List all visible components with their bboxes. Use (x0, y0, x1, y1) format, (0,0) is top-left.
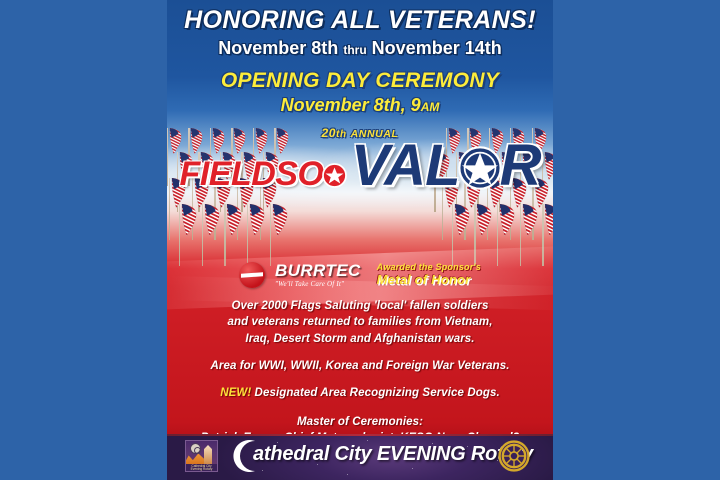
screenshot-canvas: HONORING ALL VETERANS! November 8th thru… (0, 0, 720, 480)
service-dogs-text: Designated Area Recognizing Service Dogs… (251, 387, 500, 399)
star-icon (322, 160, 347, 185)
sparkle-dot (522, 450, 523, 451)
new-badge: NEW! (220, 387, 251, 399)
sparkle-dot (347, 474, 348, 475)
date-range: November 8th thru November 14th (167, 38, 553, 59)
cathedral-city-club-logo-icon: Cathedral City Evening Rotary (185, 440, 218, 472)
logo-of-first-letter: O (297, 155, 323, 193)
star-roundel-icon (458, 142, 502, 186)
date-range-end: November 14th (372, 38, 502, 58)
burrtec-logo-icon (239, 262, 265, 288)
sparkle-dot (497, 460, 498, 461)
ceremony-date-text: November 8th, 9 (281, 95, 421, 115)
sponsor-row: BURRTEC "We'll Take Care Of It" Awarded … (167, 262, 553, 288)
rotary-club-footer: Cathedral City Evening Rotary athedral C… (167, 434, 553, 480)
award-line-2: Metal of Honor (377, 273, 481, 287)
logo-word-fields: FIELDS (180, 155, 298, 193)
sparkle-dot (367, 440, 368, 441)
veterans-event-poster: HONORING ALL VETERANS! November 8th thru… (167, 0, 553, 480)
page-title: HONORING ALL VETERANS! (167, 6, 553, 35)
body-line-2: and veterans returned to families from V… (167, 314, 553, 330)
logo-valor-after: R (500, 133, 541, 198)
sparkle-dot (317, 464, 318, 465)
body-line-4: Area for WWI, WWII, Korea and Foreign Wa… (167, 358, 553, 374)
ceremony-title: OPENING DAY CEREMONY (167, 69, 553, 93)
club-name: athedral City EVENING Rotary (253, 443, 533, 466)
mc-label: Master of Ceremonies: (167, 414, 553, 430)
logo-line-valor: VAL R (351, 137, 541, 195)
body-line-1: Over 2000 Flags Saluting 'local' fallen … (167, 298, 553, 314)
annual-ordinal: th (336, 129, 347, 140)
ceremony-time-suffix: AM (421, 100, 440, 114)
sponsor-tagline: "We'll Take Care Of It" (275, 280, 361, 288)
sponsor-award: Awarded the Sponsor's Metal of Honor (377, 263, 481, 287)
sparkle-dot (412, 468, 413, 469)
sparkle-dot (432, 443, 433, 444)
body-line-3: Iraq, Desert Storm and Afghanistan wars. (167, 331, 553, 347)
date-range-start: November 8th (218, 38, 338, 58)
ceremony-date: November 8th, 9AM (167, 95, 553, 116)
small-rotary-wheel-icon (190, 443, 201, 454)
spacer (167, 374, 553, 385)
logo-valor-before: VAL (351, 133, 460, 198)
sponsor-name: BURRTEC (275, 262, 361, 279)
rotary-international-wheel-icon (497, 439, 531, 473)
fields-of-valor-logo: FIELDSO VAL R (167, 143, 553, 195)
annual-number: 20 (321, 126, 336, 140)
date-range-connector: thru (343, 43, 366, 57)
sparkle-dot (262, 470, 263, 471)
tower-shape (204, 445, 212, 464)
logo-line-fields-of: FIELDSO (180, 157, 347, 191)
body-line-5: NEW! Designated Area Recognizing Service… (167, 385, 553, 401)
poster-header: HONORING ALL VETERANS! November 8th thru… (167, 6, 553, 116)
spacer (167, 347, 553, 358)
club-logo-caption: Cathedral City Evening Rotary (186, 464, 217, 471)
burrtec-wordmark: BURRTEC "We'll Take Care Of It" (275, 262, 361, 288)
